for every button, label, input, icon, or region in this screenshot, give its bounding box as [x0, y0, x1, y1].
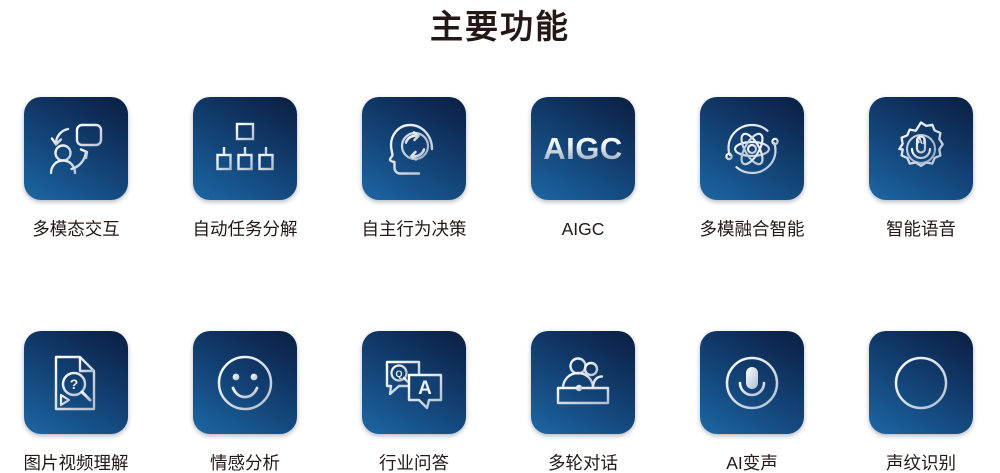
- gear-microphone-ai-icon: AI: [891, 119, 951, 179]
- feature-tile[interactable]: [193, 331, 297, 434]
- feature-item-ai-voice-change[interactable]: AI变声: [700, 331, 804, 473]
- feature-label: 多轮对话: [548, 453, 618, 473]
- feature-label: 图片视频理解: [24, 453, 129, 473]
- feature-label: 多模融合智能: [700, 219, 805, 239]
- feature-label: 智能语音: [886, 219, 956, 239]
- document-search-video-icon: ?: [49, 353, 103, 413]
- feature-label: 自主行为决策: [362, 219, 467, 239]
- feature-item-voiceprint-recognition[interactable]: 声纹识别: [869, 331, 973, 473]
- feature-tile[interactable]: [193, 97, 297, 200]
- q-bubble-text: Q: [395, 369, 402, 379]
- feature-item-task-decomposition[interactable]: 自动任务分解: [193, 97, 297, 239]
- aigc-text-icon: AIGC: [543, 133, 623, 164]
- feature-item-autonomous-decision[interactable]: 自主行为决策: [362, 97, 466, 239]
- feature-item-multimodal-fusion[interactable]: 多模融合智能: [700, 97, 804, 239]
- feature-label: 声纹识别: [886, 453, 956, 473]
- atom-fusion-icon: [721, 119, 783, 179]
- feature-label: 行业问答: [379, 453, 449, 473]
- feature-tile[interactable]: AI: [869, 97, 973, 200]
- feature-item-industry-qa[interactable]: Q A 行业问答: [362, 331, 466, 473]
- task-decomposition-hierarchy-icon: [216, 121, 274, 177]
- feature-grid: 多模态交互 自动任务分: [0, 97, 1000, 473]
- page-title: 主要功能: [0, 4, 1000, 50]
- feature-tile[interactable]: [362, 97, 466, 200]
- feature-item-multimodal-interaction[interactable]: 多模态交互: [24, 97, 128, 239]
- feature-label: 多模态交互: [32, 219, 120, 239]
- feature-tile[interactable]: ?: [24, 331, 128, 434]
- feature-tile[interactable]: Q A: [362, 331, 466, 434]
- a-bubble-text: A: [418, 378, 432, 399]
- feature-tile[interactable]: [24, 97, 128, 200]
- question-mark-text: ?: [70, 376, 79, 392]
- feature-item-aigc[interactable]: AIGC AIGC: [531, 97, 635, 239]
- qa-chat-bubbles-icon: Q A: [383, 354, 445, 412]
- feature-row: 多模态交互 自动任务分: [0, 97, 1000, 239]
- ai-badge-text: AI: [917, 137, 925, 146]
- feature-item-sentiment-analysis[interactable]: 情感分析: [193, 331, 297, 473]
- feature-tile[interactable]: [700, 97, 804, 200]
- head-decision-cycle-icon: [385, 119, 443, 179]
- people-conference-table-icon: [552, 356, 614, 410]
- microphone-circle-icon: [723, 354, 781, 412]
- feature-label: 情感分析: [210, 453, 280, 473]
- feature-tile[interactable]: [531, 331, 635, 434]
- feature-tile[interactable]: AIGC: [531, 97, 635, 200]
- feature-item-multi-turn-dialogue[interactable]: 多轮对话: [531, 331, 635, 473]
- feature-label: AI变声: [726, 453, 778, 473]
- feature-tile[interactable]: [869, 331, 973, 434]
- feature-label: AIGC: [562, 219, 605, 239]
- feature-row: ? 图片视频理解 情感: [0, 331, 1000, 473]
- feature-item-smart-voice[interactable]: AI 智能语音: [869, 97, 973, 239]
- smiley-face-icon: [216, 354, 274, 412]
- feature-tile[interactable]: [700, 331, 804, 434]
- voiceprint-waveform-circle-icon: [892, 354, 950, 412]
- feature-item-image-video-understanding[interactable]: ? 图片视频理解: [24, 331, 128, 473]
- multimodal-interaction-icon: [46, 120, 106, 178]
- feature-label: 自动任务分解: [193, 219, 298, 239]
